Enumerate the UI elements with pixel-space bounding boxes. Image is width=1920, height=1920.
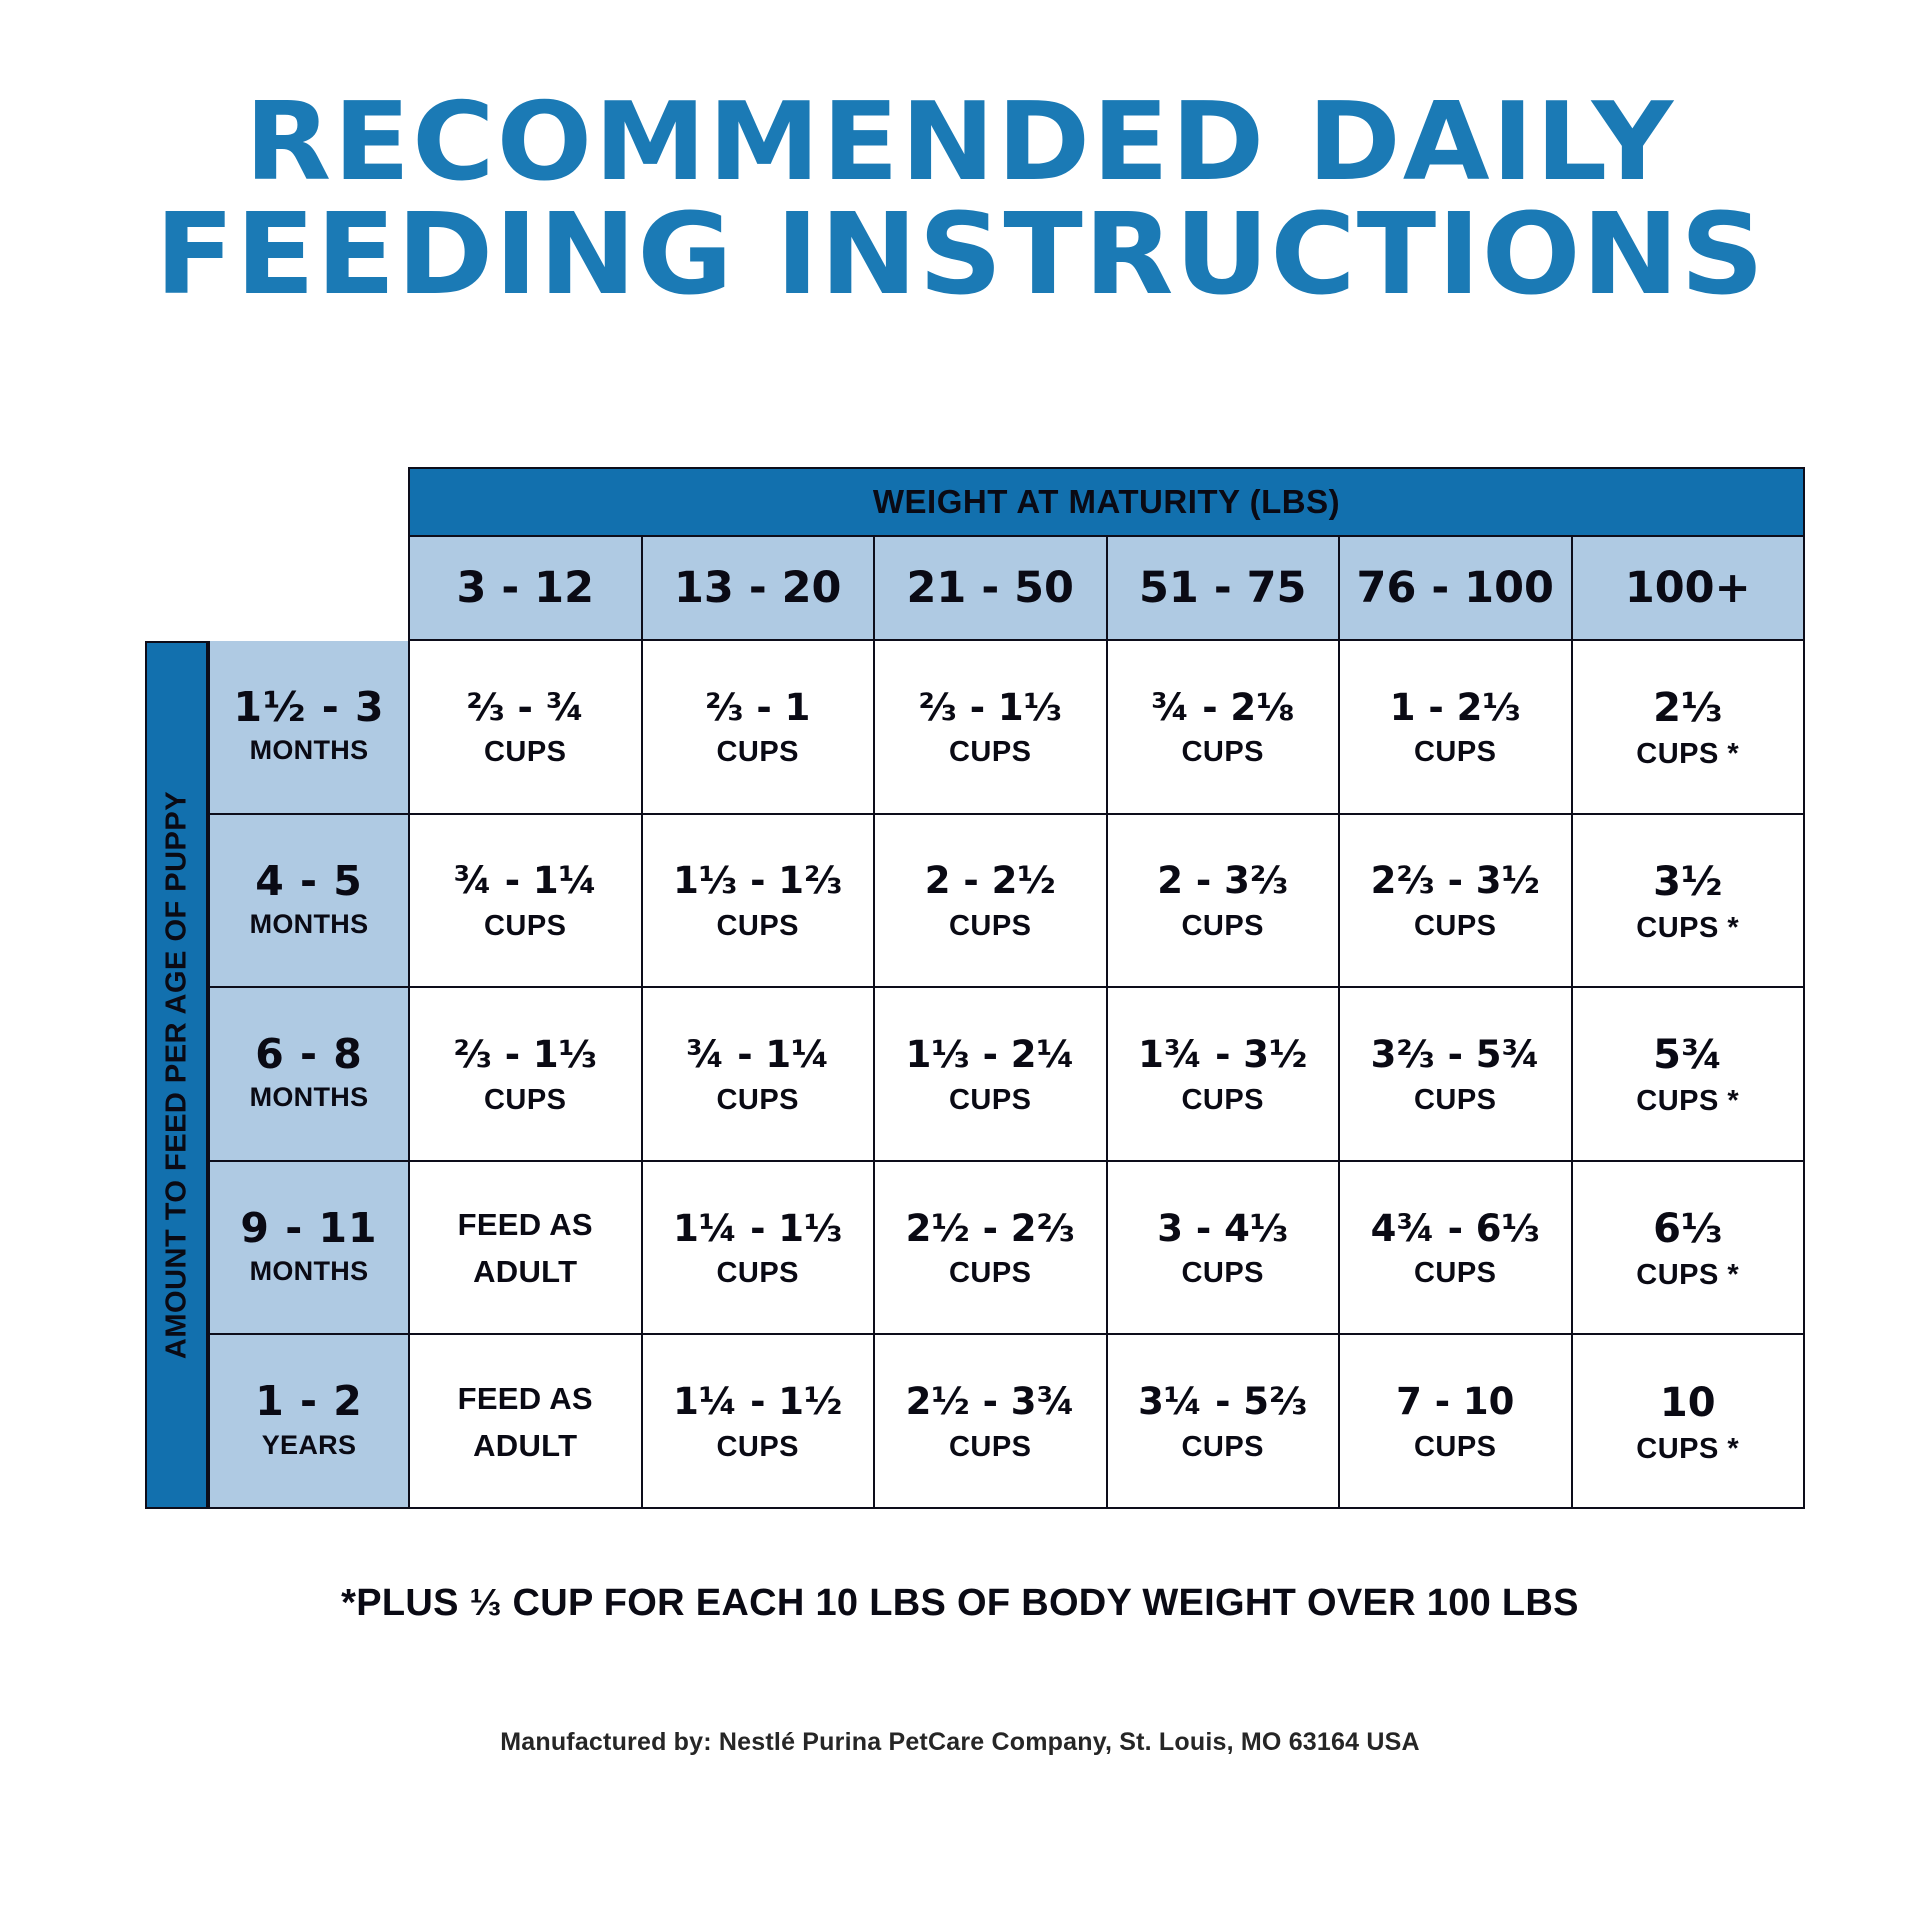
cell-amount-3-5: 6⅓ — [1653, 1206, 1722, 1252]
cell-amount-4-4: 7 - 10 — [1396, 1381, 1514, 1424]
row-label-sub-3: MONTHS — [250, 1253, 369, 1289]
row-label-1: 4 - 5 MONTHS — [208, 815, 408, 989]
cell-unit-4-2: CUPS — [949, 1429, 1032, 1465]
cell-0-2: ⅔ - 1⅓ CUPS — [873, 641, 1106, 815]
cell-3-1: 1¼ - 1⅓ CUPS — [641, 1162, 874, 1336]
cell-amount-4-5: 10 — [1660, 1380, 1716, 1426]
row-label-2: 6 - 8 MONTHS — [208, 988, 408, 1162]
cell-0-1: ⅔ - 1 CUPS — [641, 641, 874, 815]
row-label-main-1: 4 - 5 — [255, 859, 363, 904]
cell-3-2: 2½ - 2⅔ CUPS — [873, 1162, 1106, 1336]
cell-4-4: 7 - 10 CUPS — [1338, 1335, 1571, 1509]
feeding-table: AMOUNT TO FEED PER AGE OF PUPPY WEIGHT A… — [145, 467, 1805, 1509]
cell-unit-0-5: CUPS * — [1636, 736, 1739, 772]
table-row: 4 - 5 MONTHS ¾ - 1¼ CUPS 1⅓ - 1⅔ CUPS 2 … — [208, 815, 1805, 989]
row-label-main-0: 1½ - 3 — [233, 685, 384, 730]
table-column-header-row: 3 - 12 13 - 20 21 - 50 51 - 75 76 - 100 … — [208, 537, 1805, 641]
cell-unit-1-2: CUPS — [949, 908, 1032, 944]
cell-unit-0-2: CUPS — [949, 734, 1032, 770]
cell-4-3: 3¼ - 5⅔ CUPS — [1106, 1335, 1339, 1509]
cell-amount-1-5: 3½ — [1653, 859, 1722, 905]
cell-amount-2-0: ⅔ - 1⅓ — [454, 1034, 597, 1077]
table-row: 6 - 8 MONTHS ⅔ - 1⅓ CUPS ¾ - 1¼ CUPS 1⅓ … — [208, 988, 1805, 1162]
cell-1-4: 2⅔ - 3½ CUPS — [1338, 815, 1571, 989]
cell-1-2: 2 - 2½ CUPS — [873, 815, 1106, 989]
row-label-sub-2: MONTHS — [250, 1079, 369, 1115]
cell-1-0: ¾ - 1¼ CUPS — [408, 815, 641, 989]
cell-unit-4-1: CUPS — [716, 1429, 799, 1465]
cell-amount-1-4: 2⅔ - 3½ — [1371, 860, 1540, 903]
column-header-spacer — [208, 537, 408, 641]
cell-amount-2-1: ¾ - 1¼ — [686, 1034, 829, 1077]
cell-amount-0-0: ⅔ - ¾ — [466, 687, 584, 730]
cell-0-3: ¾ - 2⅛ CUPS — [1106, 641, 1339, 815]
cell-unit-2-0: CUPS — [484, 1082, 567, 1118]
cell-unit-4-4: CUPS — [1414, 1429, 1497, 1465]
cell-amount-4-0: FEED AS — [458, 1381, 593, 1417]
cell-amount-4-3: 3¼ - 5⅔ — [1138, 1381, 1307, 1424]
cell-unit-4-5: CUPS * — [1636, 1431, 1739, 1467]
table-top-header-row: WEIGHT AT MATURITY (LBS) — [208, 467, 1805, 537]
manufacturer-line: Manufactured by: Nestlé Purina PetCare C… — [0, 1728, 1920, 1757]
cell-amount-3-2: 2½ - 2⅔ — [906, 1208, 1075, 1251]
cell-unit-4-3: CUPS — [1181, 1429, 1264, 1465]
feeding-instructions-page: RECOMMENDED DAILY FEEDING INSTRUCTIONS A… — [0, 0, 1920, 1920]
cell-amount-0-3: ¾ - 2⅛ — [1151, 687, 1294, 730]
cell-amount-4-2: 2½ - 3¾ — [906, 1381, 1075, 1424]
cell-2-5: 5¾ CUPS * — [1571, 988, 1806, 1162]
cell-amount-3-0: FEED AS — [458, 1207, 593, 1243]
cell-0-4: 1 - 2⅓ CUPS — [1338, 641, 1571, 815]
cell-amount-0-1: ⅔ - 1 — [705, 687, 810, 730]
cell-amount-1-3: 2 - 3⅔ — [1157, 860, 1288, 903]
table-row: 9 - 11 MONTHS FEED AS ADULT 1¼ - 1⅓ CUPS… — [208, 1162, 1805, 1336]
footnote: *PLUS ⅓ CUP FOR EACH 10 LBS OF BODY WEIG… — [0, 1582, 1920, 1625]
column-header-0: 3 - 12 — [408, 537, 641, 641]
row-label-0: 1½ - 3 MONTHS — [208, 641, 408, 815]
cell-unit-0-4: CUPS — [1414, 734, 1497, 770]
cell-unit-2-2: CUPS — [949, 1082, 1032, 1118]
cell-4-5: 10 CUPS * — [1571, 1335, 1806, 1509]
cell-4-2: 2½ - 3¾ CUPS — [873, 1335, 1106, 1509]
cell-2-4: 3⅔ - 5¾ CUPS — [1338, 988, 1571, 1162]
column-header-5: 100+ — [1571, 537, 1806, 641]
cell-2-2: 1⅓ - 2¼ CUPS — [873, 988, 1106, 1162]
cell-3-5: 6⅓ CUPS * — [1571, 1162, 1806, 1336]
cell-amount-2-5: 5¾ — [1653, 1032, 1722, 1078]
row-label-sub-1: MONTHS — [250, 906, 369, 942]
row-label-3: 9 - 11 MONTHS — [208, 1162, 408, 1336]
cell-amount-2-3: 1¾ - 3½ — [1138, 1034, 1307, 1077]
page-title: RECOMMENDED DAILY FEEDING INSTRUCTIONS — [0, 88, 1920, 312]
cell-unit-1-1: CUPS — [716, 908, 799, 944]
cell-unit-2-4: CUPS — [1414, 1082, 1497, 1118]
cell-unit-3-5: CUPS * — [1636, 1257, 1739, 1293]
side-header-label: AMOUNT TO FEED PER AGE OF PUPPY — [160, 791, 193, 1359]
cell-unit-1-3: CUPS — [1181, 908, 1264, 944]
cell-2-3: 1¾ - 3½ CUPS — [1106, 988, 1339, 1162]
cell-amount-0-5: 2⅓ — [1653, 685, 1722, 731]
cell-unit-1-0: CUPS — [484, 908, 567, 944]
side-header-band: AMOUNT TO FEED PER AGE OF PUPPY — [145, 641, 208, 1509]
page-title-line-1: RECOMMENDED DAILY — [0, 88, 1920, 198]
cell-unit-0-3: CUPS — [1181, 734, 1264, 770]
table-row: 1½ - 3 MONTHS ⅔ - ¾ CUPS ⅔ - 1 CUPS ⅔ - … — [208, 641, 1805, 815]
page-title-line-2: FEEDING INSTRUCTIONS — [0, 198, 1920, 312]
column-header-3: 51 - 75 — [1106, 537, 1339, 641]
cell-amount-0-2: ⅔ - 1⅓ — [919, 687, 1062, 730]
cell-amount-1-1: 1⅓ - 1⅔ — [673, 860, 842, 903]
cell-3-4: 4¾ - 6⅓ CUPS — [1338, 1162, 1571, 1336]
cell-amount-1-2: 2 - 2½ — [925, 860, 1056, 903]
cell-0-0: ⅔ - ¾ CUPS — [408, 641, 641, 815]
column-header-4: 76 - 100 — [1338, 537, 1571, 641]
cell-3-3: 3 - 4⅓ CUPS — [1106, 1162, 1339, 1336]
cell-amount-3-1: 1¼ - 1⅓ — [673, 1208, 842, 1251]
cell-unit-2-5: CUPS * — [1636, 1083, 1739, 1119]
cell-unit-2-1: CUPS — [716, 1082, 799, 1118]
column-header-1: 13 - 20 — [641, 537, 874, 641]
table-row: 1 - 2 YEARS FEED AS ADULT 1¼ - 1½ CUPS 2… — [208, 1335, 1805, 1509]
row-label-sub-0: MONTHS — [250, 732, 369, 768]
cell-amount-2-2: 1⅓ - 2¼ — [906, 1034, 1075, 1077]
cell-unit-0-1: CUPS — [716, 734, 799, 770]
cell-unit-3-1: CUPS — [716, 1255, 799, 1291]
cell-unit-3-3: CUPS — [1181, 1255, 1264, 1291]
cell-4-1: 1¼ - 1½ CUPS — [641, 1335, 874, 1509]
cell-amount-0-4: 1 - 2⅓ — [1390, 687, 1521, 730]
row-label-main-2: 6 - 8 — [255, 1032, 363, 1077]
cell-amount-3-4: 4¾ - 6⅓ — [1371, 1208, 1540, 1251]
cell-unit-2-3: CUPS — [1181, 1082, 1264, 1118]
cell-3-0: FEED AS ADULT — [408, 1162, 641, 1336]
cell-4-0: FEED AS ADULT — [408, 1335, 641, 1509]
cell-amount-2-4: 3⅔ - 5¾ — [1371, 1034, 1540, 1077]
cell-unit-3-2: CUPS — [949, 1255, 1032, 1291]
cell-1-5: 3½ CUPS * — [1571, 815, 1806, 989]
cell-unit-1-4: CUPS — [1414, 908, 1497, 944]
row-label-sub-4: YEARS — [262, 1427, 357, 1463]
cell-amount-4-1: 1¼ - 1½ — [673, 1381, 842, 1424]
cell-amount-3-3: 3 - 4⅓ — [1157, 1208, 1288, 1251]
row-label-4: 1 - 2 YEARS — [208, 1335, 408, 1509]
cell-1-1: 1⅓ - 1⅔ CUPS — [641, 815, 874, 989]
cell-1-3: 2 - 3⅔ CUPS — [1106, 815, 1339, 989]
top-header-spacer — [208, 467, 408, 537]
weight-at-maturity-header: WEIGHT AT MATURITY (LBS) — [408, 467, 1805, 537]
column-header-2: 21 - 50 — [873, 537, 1106, 641]
cell-amount-1-0: ¾ - 1¼ — [454, 860, 597, 903]
cell-0-5: 2⅓ CUPS * — [1571, 641, 1806, 815]
cell-unit-3-4: CUPS — [1414, 1255, 1497, 1291]
cell-unit-1-5: CUPS * — [1636, 910, 1739, 946]
feeding-table-grid: WEIGHT AT MATURITY (LBS) 3 - 12 13 - 20 … — [208, 467, 1805, 1509]
cell-unit-0-0: CUPS — [484, 734, 567, 770]
cell-unit-4-0: ADULT — [473, 1427, 577, 1466]
cell-2-1: ¾ - 1¼ CUPS — [641, 988, 874, 1162]
cell-unit-3-0: ADULT — [473, 1253, 577, 1292]
cell-2-0: ⅔ - 1⅓ CUPS — [408, 988, 641, 1162]
row-label-main-3: 9 - 11 — [240, 1206, 377, 1251]
row-label-main-4: 1 - 2 — [255, 1379, 363, 1424]
